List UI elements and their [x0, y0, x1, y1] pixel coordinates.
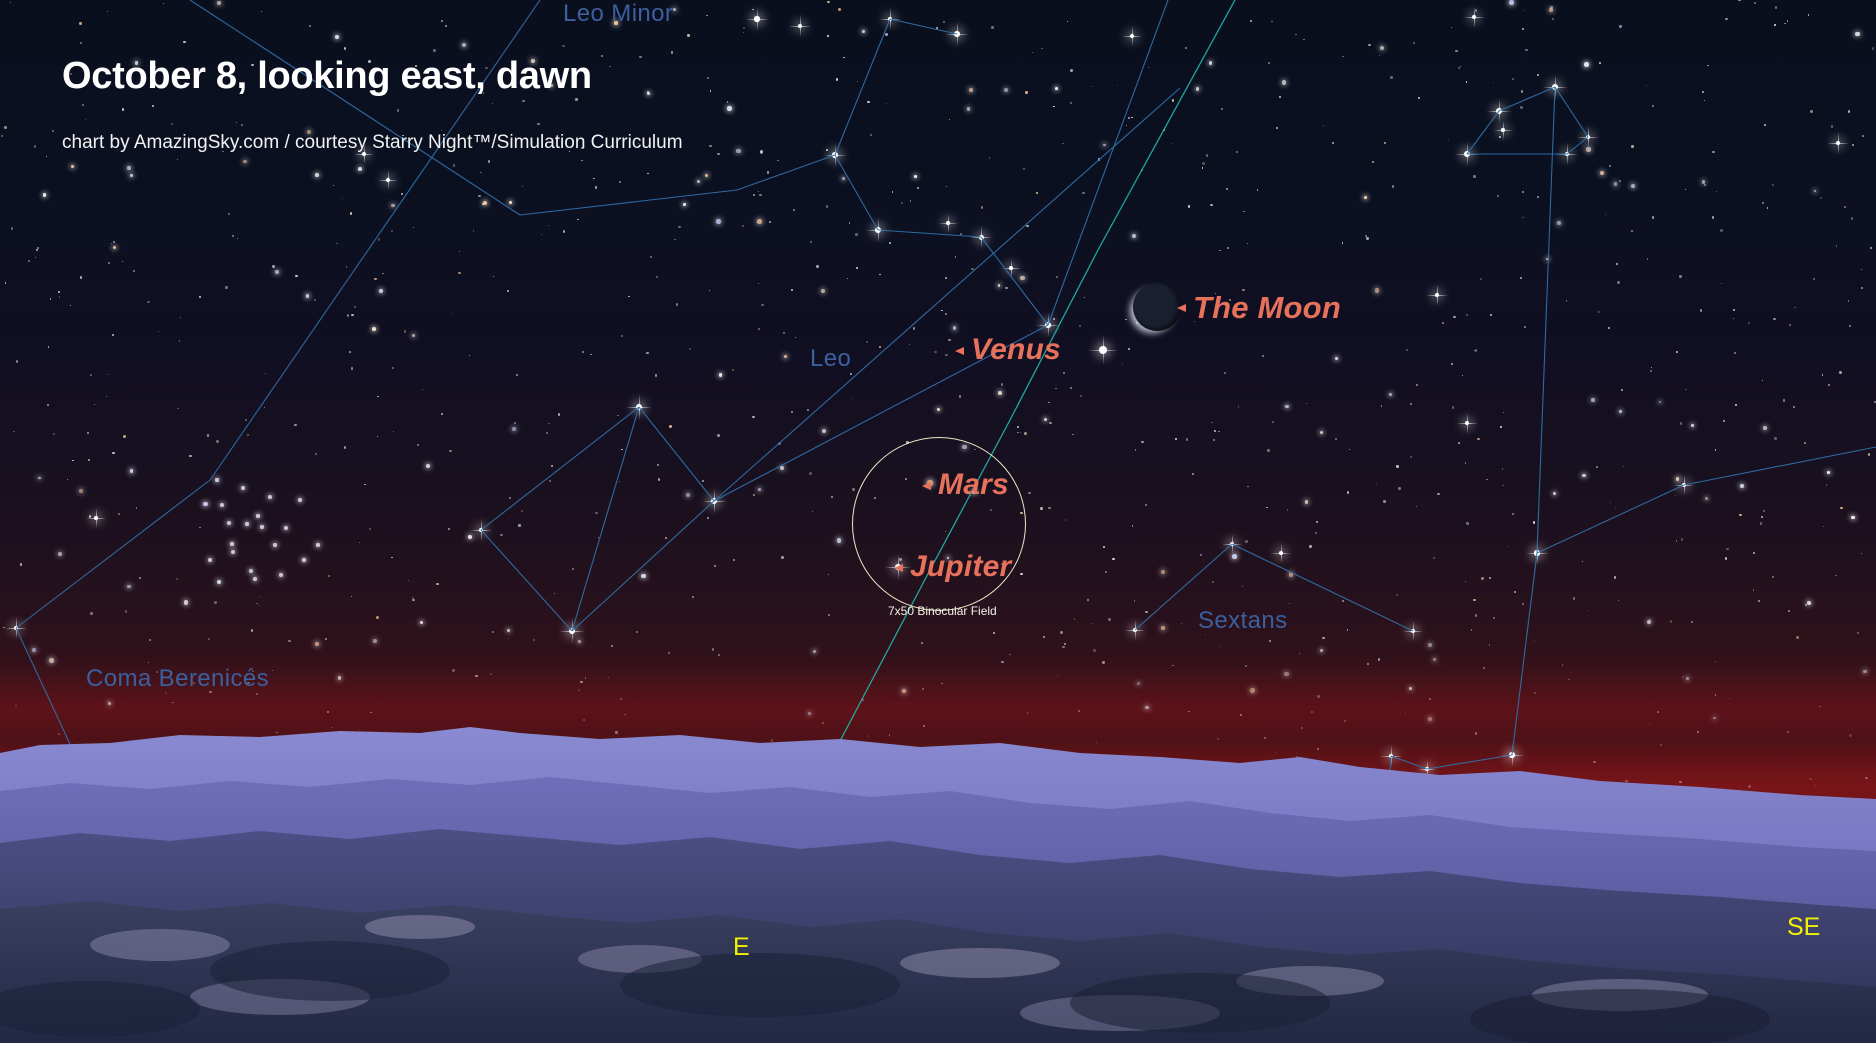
constellation-label-leo: Leo [810, 345, 851, 373]
binocular-field-circle [852, 437, 1026, 611]
star-chart-canvas: October 8, looking east, dawn chart by A… [0, 0, 1876, 1043]
chart-credit: chart by AmazingSky.com / courtesy Starr… [62, 132, 683, 154]
planet-label-the-moon: The Moon [1193, 290, 1341, 326]
compass-direction-se: SE [1787, 913, 1820, 942]
constellation-label-sextans: Sextans [1198, 607, 1288, 635]
planet-label-jupiter: Jupiter [910, 550, 1011, 584]
compass-direction-e: E [733, 933, 750, 962]
page-title: October 8, looking east, dawn [62, 55, 592, 98]
planet-label-venus: Venus [971, 333, 1061, 367]
planet-label-mars: Mars [938, 468, 1009, 502]
binocular-field-label: 7x50 Binocular Field [888, 604, 997, 618]
horizon-landscape [0, 713, 1876, 1043]
moon-crescent [1133, 283, 1181, 331]
constellation-label-leo-minor: Leo Minor [563, 0, 673, 28]
constellation-label-coma-berenic-s: Coma Berenicés [86, 665, 269, 693]
